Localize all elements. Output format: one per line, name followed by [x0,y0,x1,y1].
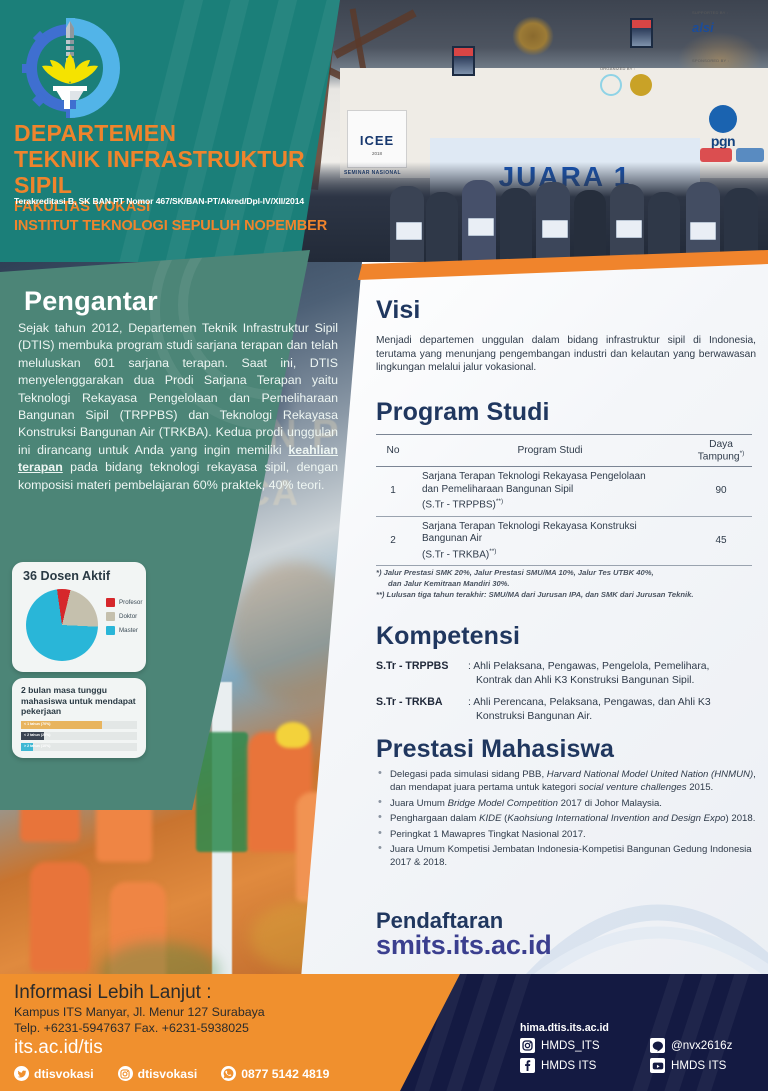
kompetensi-value-line2: Konstruksi Bangunan Air. [468,710,592,724]
bar-label: < 2 tahun (20%) [24,733,50,737]
header-photo: ICEE 2018 SEMINAR NASIONAL JUARA 1 SUPPO… [300,0,768,262]
legend-swatch [106,626,115,635]
footnote-1-line1: *) Jalur Prestasi SMK 20%, Jalur Prestas… [376,568,654,577]
hima-social-grid: HMDS_ITS @nvx2616z HMDS ITS HMDS ITS [520,1038,732,1073]
hima-line-handle: @nvx2616z [671,1039,732,1052]
bar-label: < 1 tahun (70%) [24,722,50,726]
hima-youtube[interactable]: HMDS ITS [650,1058,732,1073]
sponsored-by-label: SPONSORED BY : [692,58,729,63]
visi-heading: Visi [376,296,420,325]
row-no: 2 [376,516,410,566]
table-row: 2 Sarjana Terapan Teknologi Rekayasa Kon… [376,516,752,566]
row-name-line3: (S.Tr - TRKBA) [422,549,489,560]
row-name-line2: dan Pemeliharaan Bangunan Sipil [422,484,573,495]
prestasi-item: Peringkat 1 Mawapres Tingkat Nasional 20… [376,828,760,841]
masa-tunggu-title: 2 bulan masa tunggu mahasiswa untuk mend… [21,685,137,717]
footer-address-block: Kampus ITS Manyar, Jl. Menur 127 Surabay… [14,1004,265,1036]
footnote-2: **) Lulusan tiga tahun terakhir: SMU/MA … [376,590,693,599]
prestasi-item: Juara Umum Kompetisi Jembatan Indonesia-… [376,843,760,870]
kompetensi-value: : Ahli Pelaksana, Pengawas, Pengelola, P… [468,660,709,687]
col-daya-sup: *) [740,450,745,457]
kompetensi-heading-wrap: Kompetensi [376,622,520,651]
prestasi-item: Juara Umum Bridge Model Competition 2017… [376,797,760,810]
footer-social-row: dtisvokasi dtisvokasi 0877 5142 4819 [14,1066,353,1081]
twitter-icon [14,1066,29,1081]
row-name-line3: (S.Tr - TRPPBS) [422,500,496,511]
footer-title: Informasi Lebih Lanjut : [14,982,212,1004]
table-row: 1 Sarjana Terapan Teknologi Rekayasa Pen… [376,467,752,517]
bar-label: > 2 tahun (10%) [24,744,50,748]
dosen-pie-legend: ProfesorDoktorMaster [106,598,142,640]
legend-swatch [106,612,115,621]
program-studi-table: No Program Studi Daya Tampung*) 1 Sarjan… [376,434,752,566]
pengantar-body-part1: Sejak tahun 2012, Departemen Teknik Infr… [18,321,338,457]
prestasi-heading-wrap: Prestasi Mahasiswa [376,735,614,764]
youtube-icon [650,1058,665,1073]
bar-row: < 2 tahun (20%) [21,732,137,740]
legend-label: Profesor [119,599,142,606]
social-whatsapp[interactable]: 0877 5142 4819 [221,1066,329,1081]
legend-label: Master [119,627,138,634]
visi-body: Menjadi departemen unggulan dalam bidang… [376,334,756,375]
kompetensi-list: S.Tr - TRPPBS : Ahli Pelaksana, Pengawas… [376,660,758,732]
hima-facebook[interactable]: HMDS ITS [520,1058,640,1073]
instagram-handle: dtisvokasi [138,1067,198,1081]
twitter-handle: dtisvokasi [34,1067,94,1081]
dept-line2: TEKNIK INFRASTRUKTUR SIPIL [14,146,344,198]
row-name-sup: **) [496,498,503,505]
table-footnotes: *) Jalur Prestasi SMK 20%, Jalur Prestas… [376,568,756,600]
col-daya-tampung: Daya Tampung*) [690,435,752,467]
table-header-row: No Program Studi Daya Tampung*) [376,435,752,467]
accreditation-text: Terakreditasi B, SK BAN PT Nomor 467/SK/… [14,196,304,206]
instagram-icon [118,1066,133,1081]
legend-swatch [106,598,115,607]
footer-phone: Telp. +6231-5947637 Fax. +6231-5938025 [14,1021,249,1035]
masa-tunggu-bars: < 1 tahun (70%)< 2 tahun (20%)> 2 tahun … [21,721,137,751]
hima-instagram-handle: HMDS_ITS [541,1039,600,1052]
prestasi-items: Delegasi pada simulasi sidang PBB, Harva… [376,768,760,872]
kompetensi-value-line1: : Ahli Pelaksana, Pengawas, Pengelola, P… [468,661,709,672]
kompetensi-heading: Kompetensi [376,622,520,651]
hima-youtube-handle: HMDS ITS [671,1059,726,1072]
footer-website[interactable]: its.ac.id/tis [14,1037,103,1059]
kompetensi-value-line2: Kontrak dan Ahli K3 Konstruksi Bangunan … [468,674,694,688]
icee-banner: ICEE 2018 [347,110,407,168]
prestasi-item: Delegasi pada simulasi sidang PBB, Harva… [376,768,760,795]
kompetensi-value-line1: : Ahli Perencana, Pelaksana, Pengawas, d… [468,697,711,708]
row-program: Sarjana Terapan Teknologi Rekayasa Konst… [410,516,690,566]
poster-root: ICEE 2018 SEMINAR NASIONAL JUARA 1 SUPPO… [0,0,768,1091]
pie-legend-item: Master [106,626,142,635]
col-program: Program Studi [410,435,690,467]
row-no: 1 [376,467,410,517]
facebook-icon [520,1058,535,1073]
kompetensi-key: S.Tr - TRPPBS [376,660,468,687]
bar-row: < 1 tahun (70%) [21,721,137,729]
prestasi-heading: Prestasi Mahasiswa [376,735,614,764]
dosen-pie-chart [26,589,98,661]
bar-row: > 2 tahun (10%) [21,743,137,751]
row-name-line1: Sarjana Terapan Teknologi Rekayasa Penge… [422,471,646,482]
whatsapp-number: 0877 5142 4819 [241,1067,329,1081]
supported-by-label: SUPPORTED BY : [692,10,728,15]
garuda-emblem-icon [512,16,554,56]
hima-website[interactable]: hima.dtis.its.ac.id [520,1022,609,1034]
pie-legend-item: Profesor [106,598,142,607]
dosen-chart-card: 36 Dosen Aktif ProfesorDoktorMaster [12,562,146,672]
footer-address: Kampus ITS Manyar, Jl. Menur 127 Surabay… [14,1005,265,1019]
pengantar-body: Sejak tahun 2012, Departemen Teknik Infr… [18,320,338,494]
legend-label: Doktor [119,613,137,620]
institute-line: INSTITUT TEKNOLOGI SEPULUH NOPEMBER [14,217,344,236]
alsi-logo: alsi [692,20,714,35]
dept-line1: DEPARTEMEN [14,120,344,146]
its-logo [20,16,120,122]
kompetensi-key: S.Tr - TRKBA [376,696,468,723]
program-studi-heading: Program Studi [376,398,550,427]
pendaftaran-url[interactable]: smits.its.ac.id [376,930,552,961]
row-name-sup: **) [489,548,496,555]
row-daya-tampung: 45 [690,516,752,566]
hima-line[interactable]: @nvx2616z [650,1038,732,1053]
pengantar-heading: Pengantar [24,286,158,317]
hima-instagram[interactable]: HMDS_ITS [520,1038,640,1053]
visi-heading-wrap: Visi [376,296,420,325]
kompetensi-value: : Ahli Perencana, Pelaksana, Pengawas, d… [468,696,711,723]
organized-by-label: ORGANIZED BY : [600,66,635,71]
kompetensi-item: S.Tr - TRPPBS : Ahli Pelaksana, Pengawas… [376,660,758,687]
department-title: DEPARTEMEN TEKNIK INFRASTRUKTUR SIPIL FA… [14,120,344,236]
footnote-1-line2: dan Jalur Kemitraan Mandiri 30%. [376,579,756,590]
kompetensi-item: S.Tr - TRKBA : Ahli Perencana, Pelaksana… [376,696,758,723]
line-icon [650,1038,665,1053]
row-name-line1: Sarjana Terapan Teknologi Rekayasa Konst… [422,521,637,532]
col-daya-line2: Tampung [698,451,740,462]
social-twitter[interactable]: dtisvokasi [14,1066,94,1081]
program-studi-heading-wrap: Program Studi [376,398,550,427]
masa-tunggu-card: 2 bulan masa tunggu mahasiswa untuk mend… [12,678,146,758]
col-no: No [376,435,410,467]
instagram-icon [520,1038,535,1053]
whatsapp-icon [221,1066,236,1081]
social-instagram[interactable]: dtisvokasi [118,1066,198,1081]
pgn-label: pgn [692,133,754,149]
hima-facebook-handle: HMDS ITS [541,1059,596,1072]
icee-label: ICEE [360,133,394,148]
pie-legend-item: Doktor [106,612,142,621]
pgn-logo: pgn [692,105,754,145]
prestasi-item: Penghargaan dalam KIDE (Kaohsiung Intern… [376,812,760,825]
pengantar-body-part2: pada bidang teknologi rekayasa sipil, de… [18,460,338,491]
dosen-chart-title: 36 Dosen Aktif [23,569,110,583]
row-name-line2: Bangunan Air [422,533,482,544]
row-daya-tampung: 90 [690,467,752,517]
row-program: Sarjana Terapan Teknologi Rekayasa Penge… [410,467,690,517]
col-daya-line1: Daya [709,439,733,450]
